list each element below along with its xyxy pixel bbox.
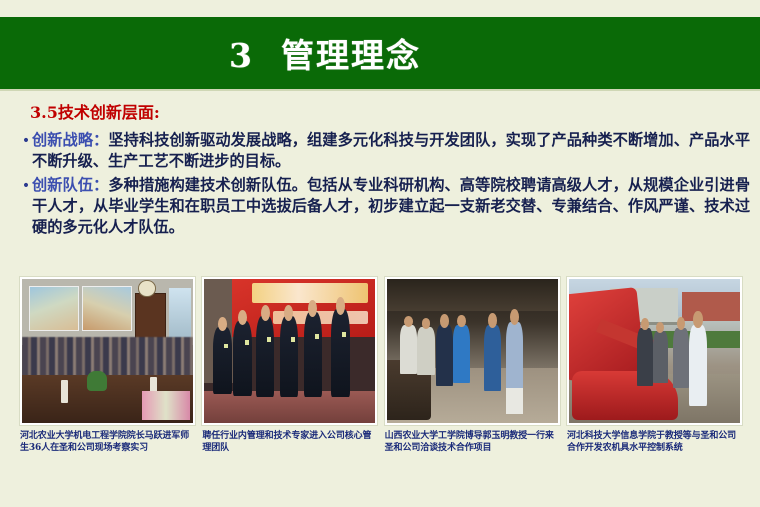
photo-caption: 山西农业大学工学院博导郭玉明教授一行来圣和公司洽谈技术合作项目: [385, 431, 560, 454]
section-heading: 3.5技术创新层面:: [30, 99, 760, 123]
page-title: 3 管理理念: [229, 29, 421, 77]
photo-frame-management-team: [202, 277, 377, 425]
bullet-body: 创新队伍：多种措施构建技术创新队伍。包括从专业科研机构、高等院校聘请高级人才，从…: [32, 175, 750, 238]
bullet-text: 多种措施构建技术创新队伍。包括从专业科研机构、高等院校聘请高级人才，从规模企业引…: [32, 176, 750, 236]
bullet-label: 创新队伍：: [32, 176, 108, 194]
bullet-item-innovation-strategy: • 创新战略：坚持科技创新驱动发展战略，组建多元化科技与开发团队，实现了产品种类…: [20, 130, 760, 172]
photo-caption: 河北农业大学机电工程学院院长马跃进军师生36人在圣和公司现场考察实习: [20, 431, 195, 454]
photo-frame-machinery-control: [567, 277, 742, 425]
photo-gallery: [20, 277, 742, 425]
bullet-label: 创新战略：: [32, 131, 108, 149]
slide-header-banner: 3 管理理念: [0, 17, 760, 89]
header-divider: [0, 89, 760, 91]
photo-frame-factory-visit: [385, 277, 560, 425]
factory-visit-photo: [387, 279, 558, 423]
management-team-photo: [204, 279, 375, 423]
bullet-text: 坚持科技创新驱动发展战略，组建多元化科技与开发团队，实现了产品种类不断增加、产品…: [32, 131, 750, 170]
photo-caption: 河北科技大学信息学院于教授等与圣和公司合作开发农机具水平控制系统: [567, 431, 742, 454]
slide-body: 3.5技术创新层面: • 创新战略：坚持科技创新驱动发展战略，组建多元化科技与开…: [0, 99, 760, 241]
machinery-control-photo: [569, 279, 740, 423]
bullet-item-innovation-team: • 创新队伍：多种措施构建技术创新队伍。包括从专业科研机构、高等院校聘请高级人才…: [20, 175, 760, 238]
photo-frame-meeting-room: [20, 277, 195, 425]
bullet-marker-icon: •: [20, 130, 32, 151]
photo-caption: 聘任行业内管理和技术专家进入公司核心管理团队: [202, 431, 377, 454]
bullet-marker-icon: •: [20, 175, 32, 196]
bullet-body: 创新战略：坚持科技创新驱动发展战略，组建多元化科技与开发团队，实现了产品种类不断…: [32, 130, 750, 172]
photo-captions: 河北农业大学机电工程学院院长马跃进军师生36人在圣和公司现场考察实习 聘任行业内…: [20, 431, 742, 454]
meeting-room-photo: [22, 279, 193, 423]
